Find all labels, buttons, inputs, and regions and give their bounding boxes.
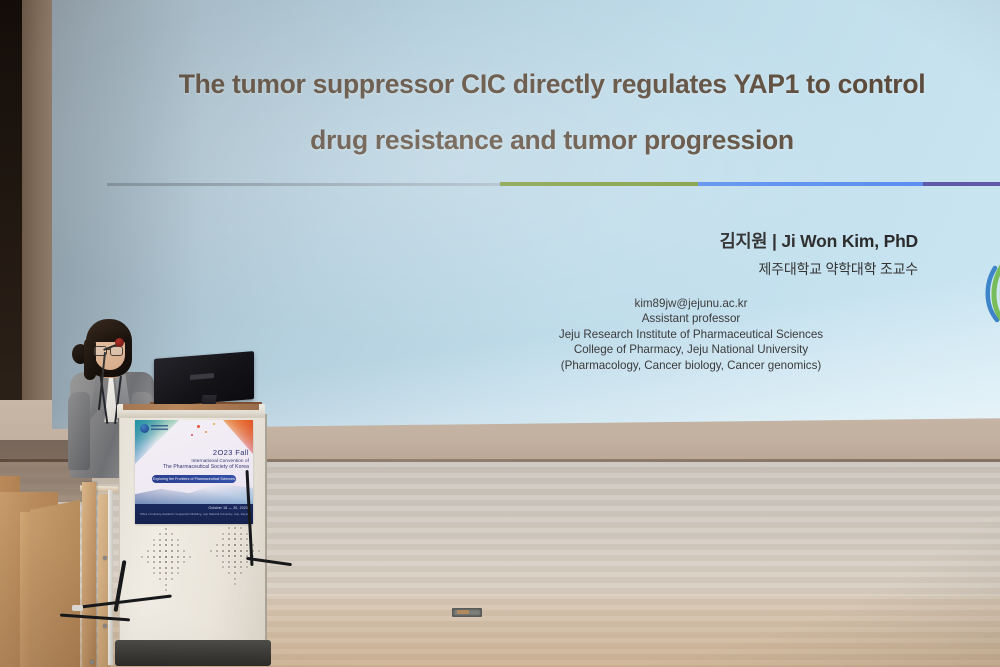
speaker-bangs	[89, 325, 131, 342]
slide-divider	[107, 180, 1000, 188]
banner-strip-title: October 18 — 20, 2023	[209, 506, 248, 510]
presenter-college: College of Pharmacy, Jeju National Unive…	[488, 342, 894, 357]
divider-segment-green	[500, 182, 698, 186]
podium-top-wood-trim	[123, 404, 259, 410]
divider-segment-purple	[923, 182, 1000, 186]
banner-line1: International Convention of	[153, 458, 249, 463]
presenter-name: 김지원 | Ji Won Kim, PhD	[488, 228, 918, 253]
slide-title-line2: drug resistance and tumor progression	[112, 112, 992, 168]
banner-bottom-strip: October 18 — 20, 2023 Office of Industry…	[135, 504, 253, 524]
presenter-fields: (Pharmacology, Cancer biology, Cancer ge…	[488, 358, 894, 373]
banner-strip-subtitle: Office of Industry-Academic Cooperation …	[140, 513, 248, 517]
podium: 2O23 Fall International Convention of Th…	[117, 404, 265, 667]
presenter-info-block: 김지원 | Ji Won Kim, PhD 제주대학교 약학대학 조교수 kim…	[488, 228, 918, 373]
auditorium-presentation-scene: The tumor suppressor CIC directly regula…	[0, 0, 1000, 667]
banner-text-block: 2O23 Fall International Convention of Th…	[153, 448, 249, 470]
banner-year: 2O23 Fall	[153, 448, 249, 457]
slide-title-line1: The tumor suppressor CIC directly regula…	[179, 69, 926, 99]
railing-metal-rod	[108, 490, 113, 665]
podium-perforation-pattern-right	[210, 516, 264, 590]
cable-plug-icon	[72, 605, 83, 611]
railing-fastener-icon	[90, 660, 94, 664]
podium-perforation-pattern-left	[141, 522, 195, 596]
microphone-head-icon	[115, 338, 124, 347]
jeju-national-university-logo-icon: CC JEJU NATIONAL UNIV	[977, 262, 1000, 340]
floor-power-outlet	[452, 608, 482, 617]
step-side-panel	[30, 500, 80, 667]
speaker-left-arm	[68, 392, 90, 470]
divider-segment-gray	[107, 183, 502, 186]
banner-theme-pill: Exploring the Frontiers of Pharmaceutica…	[152, 475, 236, 483]
divider-segment-blue	[698, 182, 923, 186]
event-banner: 2O23 Fall International Convention of Th…	[135, 420, 253, 524]
railing-fastener-icon	[103, 624, 107, 628]
presenter-affiliation-kr: 제주대학교 약학대학 조교수	[488, 259, 918, 279]
podium-top	[117, 404, 265, 418]
presenter-institute: Jeju Research Institute of Pharmaceutica…	[488, 327, 894, 342]
presenter-details: kim89jw@jejunu.ac.kr Assistant professor…	[488, 296, 918, 373]
railing-post-front	[82, 482, 96, 667]
presenter-email: kim89jw@jejunu.ac.kr	[488, 296, 894, 311]
slide-title: The tumor suppressor CIC directly regula…	[112, 56, 992, 168]
podium-base	[115, 640, 271, 666]
speaker-hair-side	[84, 338, 96, 380]
presenter-title: Assistant professor	[488, 311, 894, 326]
psk-emblem-icon	[140, 424, 168, 433]
railing-fastener-icon	[103, 556, 107, 560]
banner-line2: The Pharmaceutical Society of Korea	[153, 464, 249, 470]
